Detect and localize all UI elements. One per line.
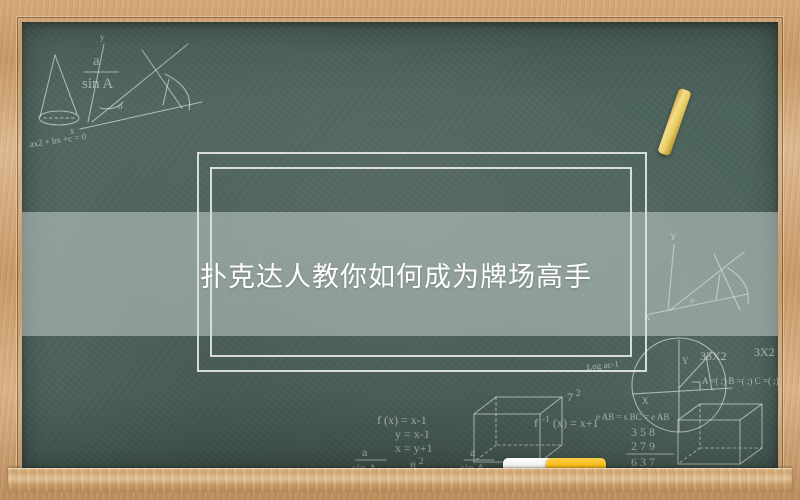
screenshot-root: a sin A y x o ax2 + bx +c = 0	[0, 0, 800, 500]
chalk-fraction-a-sina-topleft: a sin A	[82, 53, 118, 92]
svg-text:2: 2	[576, 388, 581, 398]
svg-text:7: 7	[567, 390, 573, 404]
svg-text:3 5 8: 3 5 8	[631, 425, 655, 439]
chalk-set-note: e AB = s BC = e AB	[596, 412, 669, 422]
svg-text:x: x	[70, 126, 75, 136]
svg-text:x = y+1: x = y+1	[395, 441, 433, 455]
chalkboard: a sin A y x o ax2 + bx +c = 0	[22, 22, 778, 473]
svg-text:a: a	[362, 445, 368, 459]
svg-text:sin A: sin A	[82, 76, 113, 92]
chalk-cone-drawing	[39, 55, 79, 125]
ledge-wood-grain	[8, 468, 792, 492]
chalk-function-equations: f (x) = x-1 y = x-1 x = y+1	[377, 413, 433, 455]
svg-text:y = x-1: y = x-1	[395, 427, 430, 441]
chalk-cube-center	[474, 397, 562, 462]
chalk-ledge	[8, 468, 792, 492]
svg-text:(x) = x+1: (x) = x+1	[553, 416, 599, 430]
chalk-inverse-function: f -1 (x) = x+1	[534, 414, 599, 430]
chalk-exponent-7-squared: 7 2	[567, 388, 581, 404]
svg-text:X: X	[642, 396, 649, 406]
chalk-subtraction-problem: 3 5 8 2 7 9 6 3 7	[627, 425, 674, 469]
svg-text:2 7 9: 2 7 9	[631, 439, 655, 453]
svg-text:y: y	[100, 32, 105, 42]
chalk-matrix-label-3x2: 3X2	[754, 345, 775, 359]
title-container: 扑克达人教你如何成为牌场高手	[22, 212, 778, 336]
svg-text:2: 2	[419, 456, 424, 466]
page-title: 扑克达人教你如何成为牌场高手	[200, 255, 592, 294]
chalk-quadratic-equation: ax2 + bx +c = 0	[29, 131, 87, 149]
chalk-cube-right	[678, 404, 762, 464]
svg-text:f: f	[534, 416, 538, 430]
svg-text:6 3 7: 6 3 7	[631, 455, 655, 469]
chalk-matrices-row: A =( ;) B =( ;) C =( ;)	[702, 376, 778, 386]
chalk-axis-angle-topleft: y x o	[70, 32, 202, 136]
svg-text:Y: Y	[682, 356, 689, 366]
svg-text:o: o	[118, 101, 123, 111]
svg-text:a: a	[93, 53, 100, 69]
chalk-unit-circle: Y X	[632, 338, 732, 432]
svg-text:a: a	[470, 445, 476, 459]
svg-text:f (x) = x-1: f (x) = x-1	[377, 413, 427, 427]
svg-text:-1: -1	[542, 414, 550, 424]
chalk-matrix-label-35x2: 35X2	[700, 349, 727, 363]
